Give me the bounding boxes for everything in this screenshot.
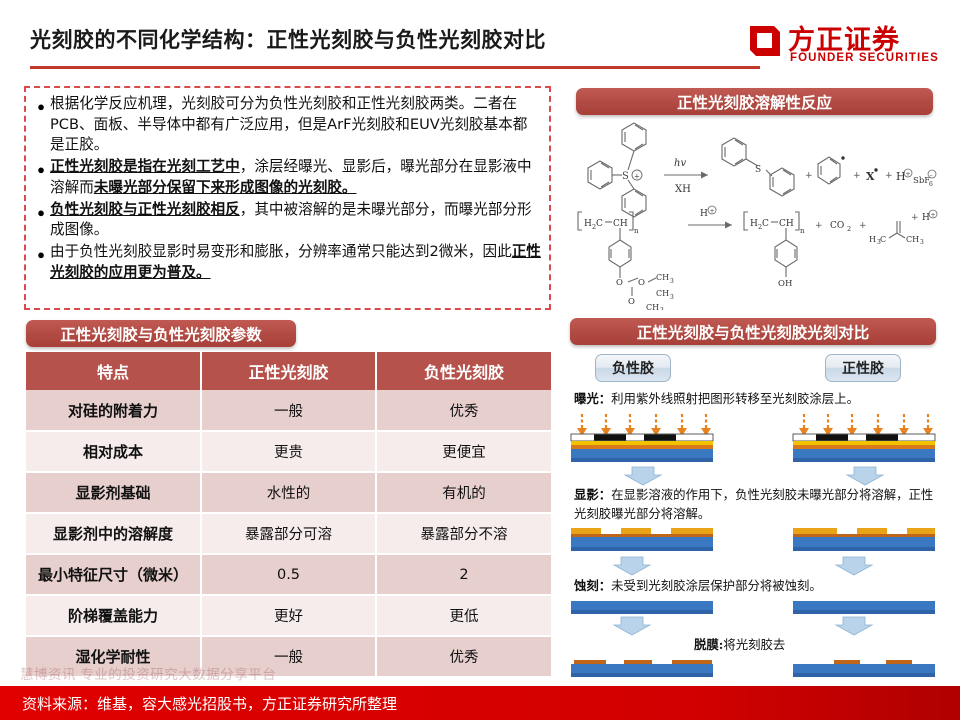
bullet-text: 正性光刻胶是指在光刻工艺中，涂层经曝光、显影后，曝光部分在显影液中溶解而未曝光部… bbox=[50, 157, 541, 198]
svg-text:2: 2 bbox=[847, 225, 851, 233]
svg-text:+: + bbox=[931, 212, 936, 219]
svg-text:CH: CH bbox=[613, 219, 628, 229]
svg-text:+: + bbox=[710, 208, 715, 215]
table-cell: 更便宜 bbox=[376, 431, 551, 472]
step-body: 未受到光刻胶涂层保护部分将被蚀刻。 bbox=[611, 578, 822, 593]
svg-text:3: 3 bbox=[920, 239, 924, 246]
bullet-dot-icon: ● bbox=[32, 200, 50, 219]
slide-header: 光刻胶的不同化学结构：正性光刻胶与负性光刻胶对比 方正证券 FOUNDER SE… bbox=[0, 22, 960, 78]
svg-text:n: n bbox=[800, 227, 805, 235]
svg-text:+: + bbox=[853, 171, 861, 181]
svg-text:SbF: SbF bbox=[913, 176, 930, 186]
svg-text:H: H bbox=[700, 209, 708, 219]
table-row-label: 显影剂中的溶解度 bbox=[26, 513, 201, 554]
flow-arrow-down-3 bbox=[566, 616, 942, 636]
svg-text:+: + bbox=[906, 171, 911, 178]
reaction-diagram-panel: S + hv XH S + bbox=[572, 120, 938, 310]
svg-text:+: + bbox=[885, 171, 893, 181]
svg-text:+: + bbox=[911, 213, 919, 223]
bullet-dot-icon: ● bbox=[32, 94, 50, 113]
svg-text:6: 6 bbox=[929, 181, 933, 188]
svg-text:S: S bbox=[622, 171, 629, 182]
table-row: 显影剂基础水性的有机的 bbox=[26, 472, 551, 513]
step-body: 在显影溶液的作用下，负性光刻胶未曝光部分将溶解，正性光刻胶曝光部分将溶解。 bbox=[574, 487, 933, 521]
svg-text:CH: CH bbox=[646, 303, 659, 310]
step-text-strip: 脱膜:将光刻胶去 bbox=[694, 636, 938, 655]
parameters-table: 特点 正性光刻胶 负性光刻胶 对硅的附着力一般优秀相对成本更贵更便宜显影剂基础水… bbox=[26, 352, 551, 678]
table-cell: 更好 bbox=[201, 595, 376, 636]
svg-text:3: 3 bbox=[660, 307, 664, 310]
svg-text:S: S bbox=[755, 165, 761, 175]
svg-text:C: C bbox=[762, 219, 769, 229]
table-cell: 一般 bbox=[201, 636, 376, 677]
section-heading-parameters: 正性光刻胶与负性光刻胶参数 bbox=[26, 320, 296, 347]
slide-footer: 资料来源：维基，容大感光招股书，方正证券研究所整理 bbox=[0, 686, 960, 720]
table-cell: 2 bbox=[376, 554, 551, 595]
bullet-emphasis: 正性光刻胶是指在光刻工艺中 bbox=[50, 158, 240, 175]
step-body: 利用紫外线照射把图形转移至光刻胶涂层上。 bbox=[611, 391, 859, 406]
step-text-exposure: 曝光：利用紫外线照射把图形转移至光刻胶涂层上。 bbox=[574, 390, 936, 409]
svg-text:+: + bbox=[859, 221, 867, 231]
svg-text:C: C bbox=[880, 235, 886, 244]
svg-text:H: H bbox=[869, 235, 876, 244]
svg-text:CH: CH bbox=[779, 219, 794, 229]
table-cell: 0.5 bbox=[201, 554, 376, 595]
step-text-etch: 蚀刻：未受到光刻胶涂层保护部分将被蚀刻。 bbox=[574, 577, 936, 596]
step-label: 脱膜: bbox=[694, 637, 723, 652]
table-header-row: 特点 正性光刻胶 负性光刻胶 bbox=[26, 352, 551, 390]
table-row: 最小特征尺寸（微米）0.52 bbox=[26, 554, 551, 595]
bullet-emphasis: 负性光刻胶与正性光刻胶相反 bbox=[50, 201, 240, 218]
bullet-emphasis: 未曝光部分保留下来形成图像的光刻胶。 bbox=[94, 179, 357, 196]
table-row: 显影剂中的溶解度暴露部分可溶暴露部分不溶 bbox=[26, 513, 551, 554]
page-title: 光刻胶的不同化学结构：正性光刻胶与负性光刻胶对比 bbox=[30, 24, 546, 54]
label-positive-resist: 正性胶 bbox=[825, 354, 901, 382]
svg-text:O: O bbox=[638, 278, 645, 288]
bullet-item: ● 由于负性光刻胶显影时易变形和膨胀，分辨率通常只能达到2微米，因此正性光刻胶的… bbox=[32, 242, 541, 283]
table-row-label: 阶梯覆盖能力 bbox=[26, 595, 201, 636]
table-cell: 优秀 bbox=[376, 390, 551, 431]
table-row: 湿化学耐性一般优秀 bbox=[26, 636, 551, 677]
table-cell: 优秀 bbox=[376, 636, 551, 677]
svg-text:+: + bbox=[805, 171, 813, 181]
svg-text:CH: CH bbox=[656, 289, 669, 298]
svg-text:O: O bbox=[616, 278, 623, 288]
key-points-box: ● 根据化学反应机理，光刻胶可分为负性光刻胶和正性光刻胶两类。二者在PCB、面板… bbox=[24, 86, 551, 310]
title-underline-rule bbox=[30, 66, 760, 69]
table-row-label: 显影剂基础 bbox=[26, 472, 201, 513]
bullet-dot-icon: ● bbox=[32, 157, 50, 176]
bullet-run: 由于负性光刻胶显影时易变形和膨胀，分辨率通常只能达到2微米，因此 bbox=[50, 243, 512, 260]
step-text-develop: 显影：在显影溶液的作用下，负性光刻胶未曝光部分将溶解，正性光刻胶曝光部分将溶解。 bbox=[574, 486, 936, 523]
photoresist-reaction-svg: S + hv XH S + bbox=[572, 120, 938, 310]
svg-text:+: + bbox=[815, 221, 823, 231]
table-cell: 暴露部分可溶 bbox=[201, 513, 376, 554]
svg-text:X: X bbox=[866, 170, 875, 183]
table-header-cell: 正性光刻胶 bbox=[201, 352, 376, 390]
logo-text-en: FOUNDER SECURITIES bbox=[790, 52, 939, 64]
label-negative-resist: 负性胶 bbox=[595, 354, 671, 382]
step-label: 蚀刻： bbox=[574, 578, 611, 593]
svg-text:C: C bbox=[596, 219, 603, 229]
table-row: 对硅的附着力一般优秀 bbox=[26, 390, 551, 431]
diagram-strip bbox=[566, 658, 942, 684]
svg-text:CH: CH bbox=[906, 235, 919, 244]
step-body: 将光刻胶去 bbox=[723, 637, 785, 652]
lithography-comparison-panel: 负性胶 正性胶 曝光：利用紫外线照射把图形转移至光刻胶涂层上。 bbox=[566, 350, 942, 685]
bullet-item: ● 正性光刻胶是指在光刻工艺中，涂层经曝光、显影后，曝光部分在显影液中溶解而未曝… bbox=[32, 157, 541, 198]
svg-text:O: O bbox=[628, 297, 635, 307]
table-row-label: 湿化学耐性 bbox=[26, 636, 201, 677]
svg-text:H: H bbox=[750, 219, 758, 229]
bullet-dot-icon: ● bbox=[32, 242, 50, 261]
svg-text:CO: CO bbox=[830, 221, 844, 231]
bullet-item: ● 负性光刻胶与正性光刻胶相反，其中被溶解的是未曝光部分，而曝光部分形成图像。 bbox=[32, 200, 541, 241]
flow-arrow-down-1 bbox=[566, 466, 942, 486]
company-logo: 方正证券 FOUNDER SECURITIES bbox=[742, 20, 942, 76]
bullet-text: 负性光刻胶与正性光刻胶相反，其中被溶解的是未曝光部分，而曝光部分形成图像。 bbox=[50, 200, 541, 241]
svg-text:3: 3 bbox=[670, 294, 674, 301]
svg-text:3: 3 bbox=[670, 278, 674, 285]
svg-text:n: n bbox=[634, 227, 639, 235]
table-row: 相对成本更贵更便宜 bbox=[26, 431, 551, 472]
source-note: 资料来源：维基，容大感光招股书，方正证券研究所整理 bbox=[22, 693, 397, 714]
section-heading-comparison: 正性光刻胶与负性光刻胶光刻对比 bbox=[570, 318, 936, 345]
step-label: 曝光： bbox=[574, 391, 611, 406]
bullet-item: ● 根据化学反应机理，光刻胶可分为负性光刻胶和正性光刻胶两类。二者在PCB、面板… bbox=[32, 94, 541, 156]
slide-canvas: 光刻胶的不同化学结构：正性光刻胶与负性光刻胶对比 方正证券 FOUNDER SE… bbox=[0, 0, 960, 720]
table-cell: 水性的 bbox=[201, 472, 376, 513]
svg-text:–: – bbox=[930, 172, 933, 179]
table-cell: 更低 bbox=[376, 595, 551, 636]
table-cell: 更贵 bbox=[201, 431, 376, 472]
flow-arrow-down-2 bbox=[566, 556, 942, 576]
table-row-label: 相对成本 bbox=[26, 431, 201, 472]
bullet-text: 由于负性光刻胶显影时易变形和膨胀，分辨率通常只能达到2微米，因此正性光刻胶的应用… bbox=[50, 242, 541, 283]
svg-text:H: H bbox=[584, 219, 592, 229]
table-cell: 暴露部分不溶 bbox=[376, 513, 551, 554]
table-row-label: 最小特征尺寸（微米） bbox=[26, 554, 201, 595]
bullet-run: 根据化学反应机理，光刻胶可分为负性光刻胶和正性光刻胶两类。二者在PCB、面板、半… bbox=[50, 95, 527, 153]
table-row: 阶梯覆盖能力更好更低 bbox=[26, 595, 551, 636]
step-label: 显影： bbox=[574, 487, 611, 502]
founder-logo-mark-icon bbox=[748, 24, 782, 58]
bullet-text: 根据化学反应机理，光刻胶可分为负性光刻胶和正性光刻胶两类。二者在PCB、面板、半… bbox=[50, 94, 541, 156]
svg-text:XH: XH bbox=[675, 184, 691, 195]
section-heading-reaction: 正性光刻胶溶解性反应 bbox=[576, 88, 933, 115]
table-body: 对硅的附着力一般优秀相对成本更贵更便宜显影剂基础水性的有机的显影剂中的溶解度暴露… bbox=[26, 390, 551, 677]
table-cell: 一般 bbox=[201, 390, 376, 431]
table-header-cell: 负性光刻胶 bbox=[376, 352, 551, 390]
table-cell: 有机的 bbox=[376, 472, 551, 513]
svg-text:CH: CH bbox=[656, 273, 669, 282]
table-row-label: 对硅的附着力 bbox=[26, 390, 201, 431]
table-header-cell: 特点 bbox=[26, 352, 201, 390]
svg-text:OH: OH bbox=[778, 279, 792, 289]
diagram-exposure bbox=[566, 412, 942, 470]
svg-text:+: + bbox=[634, 173, 640, 181]
svg-text:hv: hv bbox=[674, 158, 686, 169]
